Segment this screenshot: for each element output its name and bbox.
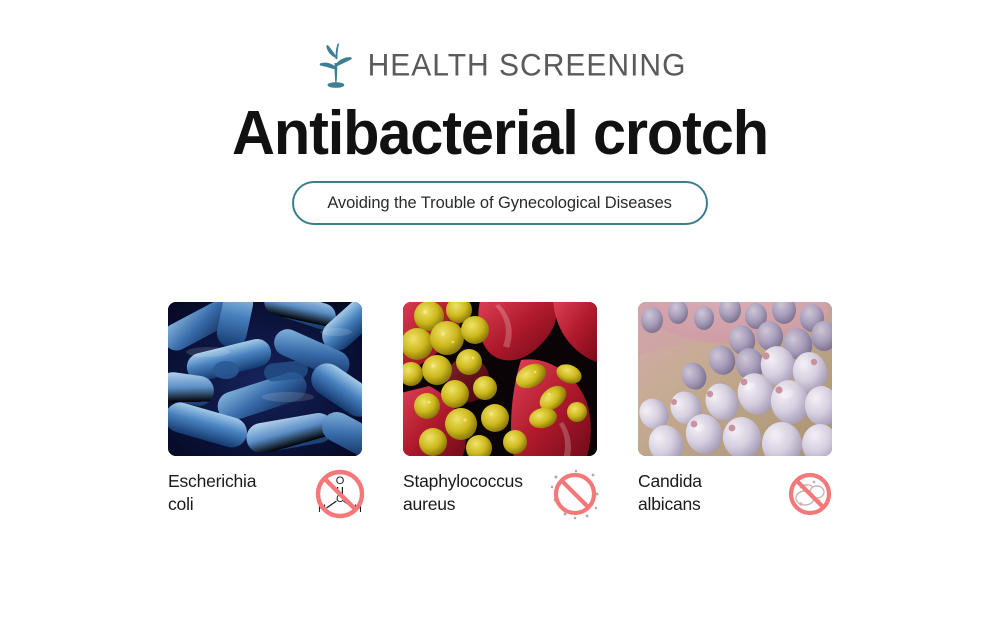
card-footer: Escherichia coli O C H H [168, 468, 362, 522]
pathogen-name: Candida albicans [638, 468, 702, 516]
pathogen-card: Escherichia coli O C H H [168, 302, 362, 522]
subtitle-pill: Avoiding the Trouble of Gynecological Di… [292, 181, 707, 225]
pathogen-card-list: Escherichia coli O C H H [168, 302, 832, 522]
pathogen-card: Staphylococcus aureus [403, 302, 597, 522]
subtitle-text: Avoiding the Trouble of Gynecological Di… [328, 193, 672, 213]
brand-name: HEALTH SCREENING [368, 50, 687, 82]
escherichia-coli-micrograph [168, 302, 362, 456]
brand-header: HEALTH SCREENING [0, 40, 1000, 92]
no-formaldehyde-icon: O C H H [314, 468, 366, 520]
sprout-icon [314, 41, 356, 91]
no-fungus-icon [784, 468, 836, 520]
svg-text:O: O [336, 475, 345, 487]
pathogen-card: Candida albicans [638, 302, 832, 522]
staphylococcus-aureus-micrograph [403, 302, 597, 456]
pathogen-name: Staphylococcus aureus [403, 468, 523, 516]
pathogen-name: Escherichia coli [168, 468, 256, 516]
no-bacteria-icon [549, 468, 601, 520]
card-footer: Staphylococcus aureus [403, 468, 597, 522]
subtitle-container: Avoiding the Trouble of Gynecological Di… [0, 181, 1000, 225]
page-title: Antibacterial crotch [20, 98, 980, 169]
candida-albicans-micrograph [638, 302, 832, 456]
card-footer: Candida albicans [638, 468, 832, 522]
